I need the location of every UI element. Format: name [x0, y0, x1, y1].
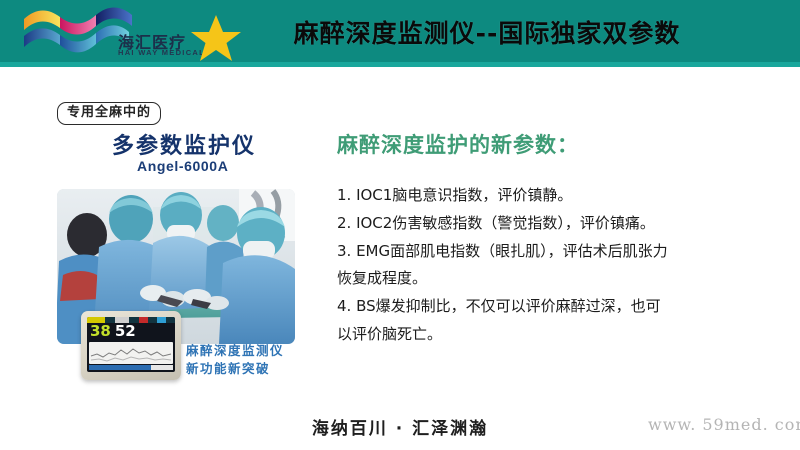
patient-monitor-device: 38 52 [81, 311, 181, 380]
usage-badge: 专用全麻中的 [57, 102, 161, 125]
screen-trend-graph [89, 342, 173, 364]
feature-line: 4. BS爆发抑制比，不仅可以评价麻醉过深，也可 [337, 293, 737, 321]
device-caption-line2: 新功能新突破 [186, 360, 284, 378]
ioc1-value: 38 [90, 324, 111, 339]
device-caption-line1: 麻醉深度监测仪 [186, 342, 284, 360]
feature-line: 以评价脑死亡。 [337, 321, 737, 349]
header-accent-stripe [0, 62, 800, 67]
features-list: 1. IOC1脑电意识指数，评价镇静。 2. IOC2伤害敏感指数（警觉指数），… [337, 182, 737, 349]
product-name: 多参数监护仪 [112, 128, 256, 160]
feature-line: 1. IOC1脑电意识指数，评价镇静。 [337, 182, 737, 210]
trend-line-icon [89, 342, 173, 364]
feature-line: 2. IOC2伤害敏感指数（警觉指数），评价镇痛。 [337, 210, 737, 238]
features-heading: 麻醉深度监护的新参数： [337, 129, 579, 159]
page-title: 麻醉深度监测仪--国际独家双参数 [252, 14, 722, 50]
product-model: Angel-6000A [137, 158, 228, 174]
feature-line: 3. EMG面部肌电指数（眼扎肌），评估术后肌张力 [337, 238, 737, 266]
device-caption: 麻醉深度监测仪 新功能新突破 [186, 342, 284, 378]
device-screen: 38 52 [87, 317, 175, 372]
star-decoration [190, 14, 242, 67]
site-watermark: www. 59med. com [648, 415, 800, 434]
screen-readouts: 38 52 [90, 324, 136, 339]
screen-bottom-bar [89, 365, 173, 370]
company-logo: 海汇医疗 HAI WAY MEDICAL [22, 6, 187, 58]
star-icon [190, 14, 242, 62]
ioc2-value: 52 [115, 324, 136, 339]
feature-line: 恢复成程度。 [337, 265, 737, 293]
